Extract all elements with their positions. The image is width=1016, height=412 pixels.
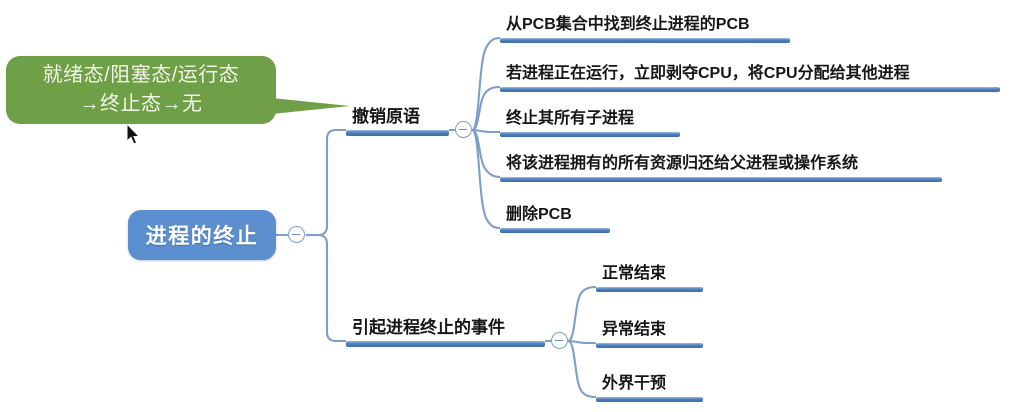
leaf-node-delete-pcb[interactable]: 删除PCB: [500, 205, 610, 233]
leaf-node-normal-termination[interactable]: 正常结束: [596, 264, 703, 292]
leaf-node-abnormal-termination[interactable]: 异常结束: [596, 320, 703, 348]
leaf-underline-bar: [500, 38, 790, 43]
leaf-node-label: 正常结束: [596, 264, 703, 287]
leaf-node-label: 异常结束: [596, 320, 703, 343]
leaf-underline-bar: [500, 228, 610, 233]
branch-node-label: 撤销原语: [346, 107, 449, 130]
leaf-node-label: 删除PCB: [500, 205, 610, 228]
leaf-node-terminate-children[interactable]: 终止其所有子进程: [500, 109, 680, 137]
root-node-label: 进程的终止: [146, 220, 259, 250]
leaf-node-label: 将该进程拥有的所有资源归还给父进程或操作系统: [500, 154, 942, 177]
callout-line-2: →终止态→无: [80, 90, 203, 119]
callout-line-1: 就绪态/阻塞态/运行态: [43, 61, 240, 90]
leaf-node-find-pcb[interactable]: 从PCB集合中找到终止进程的PCB: [500, 15, 790, 43]
leaf-node-return-resources[interactable]: 将该进程拥有的所有资源归还给父进程或操作系统: [500, 154, 942, 182]
branch-node-label: 引起进程终止的事件: [346, 318, 545, 341]
mouse-pointer-icon: [126, 124, 142, 146]
leaf-node-label: 从PCB集合中找到终止进程的PCB: [500, 15, 790, 38]
leaf-underline-bar: [500, 177, 942, 182]
leaf-node-preempt-cpu[interactable]: 若进程正在运行，立即剥夺CPU，将CPU分配给其他进程: [500, 64, 1000, 92]
leaf-node-label: 终止其所有子进程: [500, 109, 680, 132]
mindmap-canvas: 就绪态/阻塞态/运行态 →终止态→无 进程的终止 撤销原语 从PCB集合中找到终…: [0, 0, 1016, 412]
callout-bubble: 就绪态/阻塞态/运行态 →终止态→无: [6, 56, 276, 124]
leaf-node-external-intervention[interactable]: 外界干预: [596, 374, 703, 402]
branch-node-termination-events[interactable]: 引起进程终止的事件: [346, 318, 545, 347]
branch-underline-bar: [346, 130, 449, 136]
leaf-underline-bar: [596, 343, 703, 348]
minus-circle-icon-branch-termination-events[interactable]: [551, 332, 568, 349]
leaf-underline-bar: [596, 287, 703, 292]
leaf-underline-bar: [596, 397, 703, 402]
leaf-underline-bar: [500, 132, 680, 137]
root-node-process-termination[interactable]: 进程的终止: [128, 210, 276, 260]
leaf-node-label: 外界干预: [596, 374, 703, 397]
minus-circle-icon-branch-revoke-primitive[interactable]: [455, 121, 472, 138]
leaf-node-label: 若进程正在运行，立即剥夺CPU，将CPU分配给其他进程: [500, 64, 1000, 87]
branch-underline-bar: [346, 341, 545, 347]
leaf-underline-bar: [500, 87, 1000, 92]
callout-tail: [262, 97, 350, 115]
branch-node-revoke-primitive[interactable]: 撤销原语: [346, 107, 449, 136]
minus-circle-icon-root[interactable]: [288, 226, 305, 243]
